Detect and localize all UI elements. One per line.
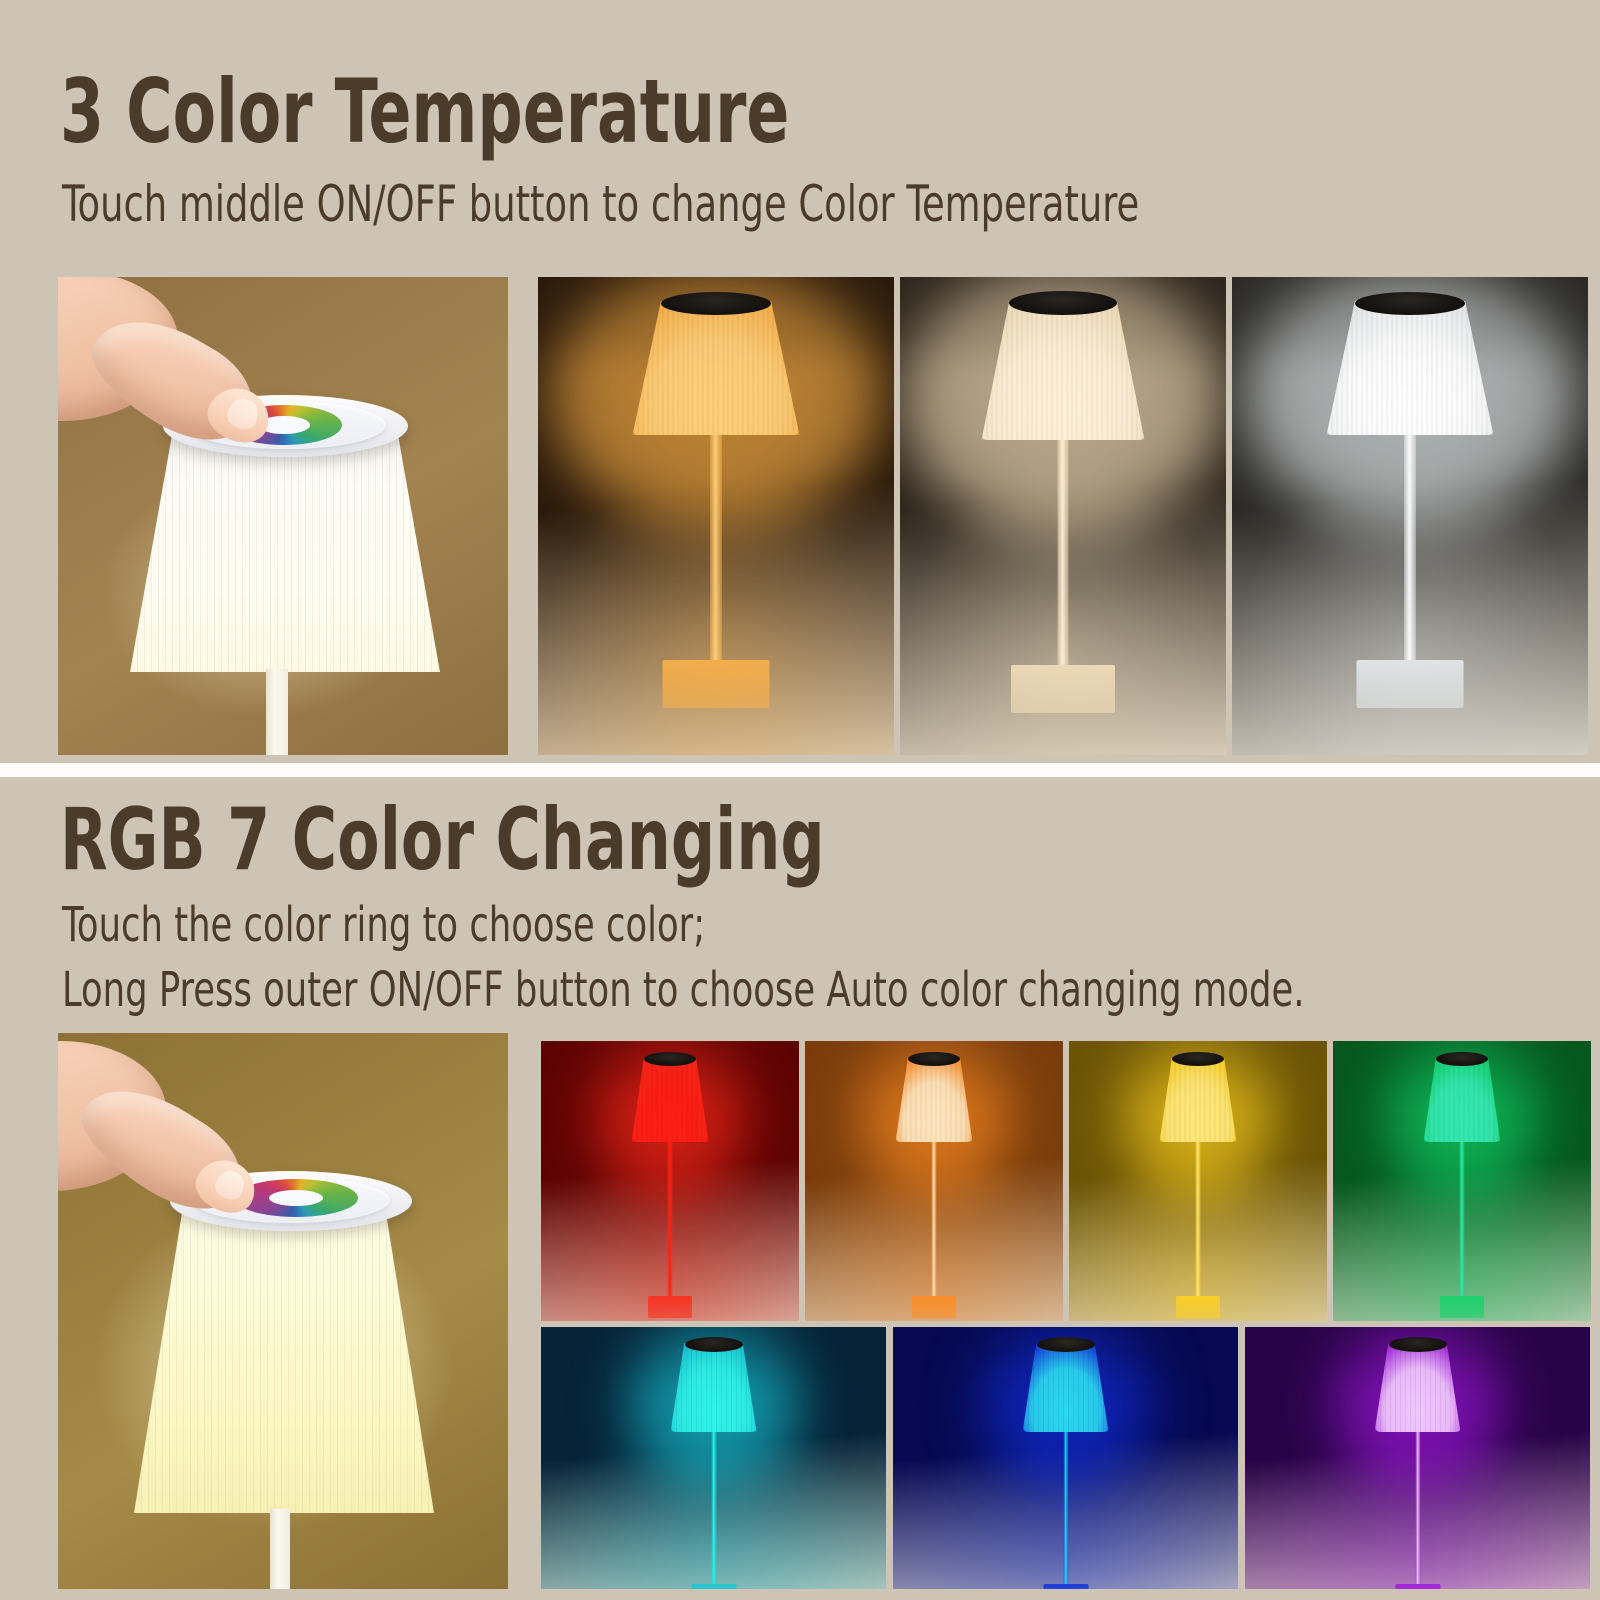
lamp-base	[912, 1296, 956, 1318]
lamp-top-cap	[1172, 1052, 1224, 1066]
lamp-base	[1011, 665, 1115, 713]
lamp-shade	[633, 301, 800, 435]
lamp-shade	[1160, 1058, 1237, 1142]
section-divider	[0, 763, 1600, 777]
lamp-stem	[1415, 1432, 1420, 1584]
lamp-stem	[668, 1142, 673, 1296]
page-title-color-temperature: 3 Color Temperature	[60, 60, 789, 163]
lamp-shade	[982, 301, 1145, 440]
lamp-base	[1395, 1584, 1440, 1589]
lamp-base	[648, 1296, 692, 1318]
lamp-base	[663, 660, 770, 708]
subtitle-rgb-line-1: Touch the color ring to choose color;	[62, 897, 705, 953]
lamp-shade	[1327, 301, 1494, 435]
lamp-stem	[1404, 435, 1416, 660]
lamp-shade	[671, 1343, 757, 1432]
lamp-top-cap	[644, 1052, 696, 1066]
lamp-stem	[711, 1432, 716, 1584]
lamp-photo-blue	[893, 1327, 1238, 1589]
lamp-shade	[632, 1058, 709, 1142]
lamp-shade	[1023, 1343, 1109, 1432]
lamp-shade	[896, 1058, 973, 1142]
lamp-photo-orange	[805, 1041, 1063, 1321]
lamp-photo-cool-white	[1232, 277, 1588, 755]
hero-image-touch-middle-button	[58, 277, 508, 755]
lamp-top-cap	[1436, 1052, 1488, 1066]
lamp-stem	[266, 669, 288, 755]
lamp-stem	[932, 1142, 937, 1296]
lamp-photo-yellow	[1069, 1041, 1327, 1321]
lamp-stem	[270, 1509, 290, 1589]
lamp-shade	[134, 1213, 434, 1513]
hero-image-touch-color-ring	[58, 1033, 508, 1589]
page-title-rgb-color-changing: RGB 7 Color Changing	[60, 790, 825, 890]
lamp-top-cap	[685, 1337, 743, 1352]
lamp-stem	[1063, 1432, 1068, 1584]
lamp-photo-green	[1333, 1041, 1591, 1321]
lamp-top-cap	[661, 292, 771, 315]
lamp-top-cap	[1009, 291, 1117, 315]
lamp-base	[1043, 1584, 1088, 1589]
lamp-shade	[1375, 1343, 1461, 1432]
subtitle-color-temperature: Touch middle ON/OFF button to change Col…	[62, 175, 1139, 233]
lamp-top-cap	[908, 1052, 960, 1066]
lamp-shade	[1424, 1058, 1501, 1142]
lamp-shade	[130, 427, 440, 672]
lamp-stem	[710, 435, 722, 660]
lamp-photo-warm-white	[538, 277, 894, 755]
lamp-base	[1440, 1296, 1484, 1318]
lamp-top-cap	[1037, 1337, 1095, 1352]
lamp-photo-cyan	[541, 1327, 886, 1589]
subtitle-rgb-line-2: Long Press outer ON/OFF button to choose…	[62, 962, 1304, 1018]
lamp-top-cap	[1389, 1337, 1447, 1352]
lamp-stem	[1196, 1142, 1201, 1296]
lamp-top-cap	[1355, 292, 1465, 315]
lamp-stem	[1460, 1142, 1465, 1296]
lamp-stem	[1058, 440, 1069, 665]
lamp-base	[691, 1584, 736, 1589]
lamp-photo-purple	[1245, 1327, 1590, 1589]
lamp-base	[1176, 1296, 1220, 1318]
lamp-photo-red	[541, 1041, 799, 1321]
lamp-base	[1357, 660, 1464, 708]
lamp-photo-natural-white	[900, 277, 1226, 755]
